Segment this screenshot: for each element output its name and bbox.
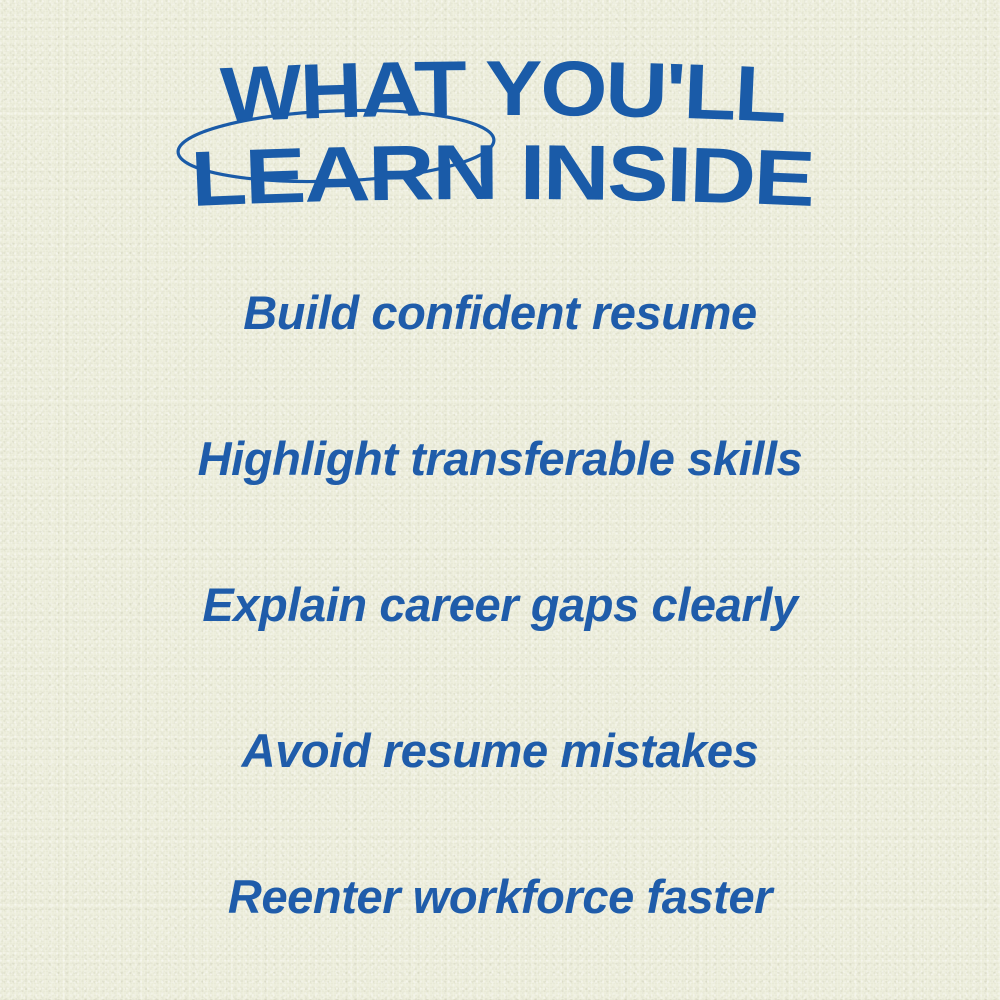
list-item: Explain career gaps clearly: [0, 532, 1000, 678]
headline-block: WHAT YOU'LL LEARN INSIDE: [0, 46, 1000, 196]
list-item: Highlight transferable skills: [0, 386, 1000, 532]
headline-line-1: WHAT YOU'LL: [219, 44, 787, 139]
headline-line-1-text: WHAT YOU'LL: [219, 44, 787, 139]
headline-svg: WHAT YOU'LL LEARN INSIDE: [0, 46, 1000, 196]
headline-line-2-text: LEARN INSIDE: [189, 128, 815, 223]
poster-canvas: WHAT YOU'LL LEARN INSIDE Build confident…: [0, 0, 1000, 1000]
list-item: Build confident resume: [0, 240, 1000, 386]
list-item: Avoid resume mistakes: [0, 678, 1000, 824]
list-item: Reenter workforce faster: [0, 824, 1000, 970]
learn-list: Build confident resume Highlight transfe…: [0, 240, 1000, 970]
headline-line-2: LEARN INSIDE: [189, 128, 815, 223]
